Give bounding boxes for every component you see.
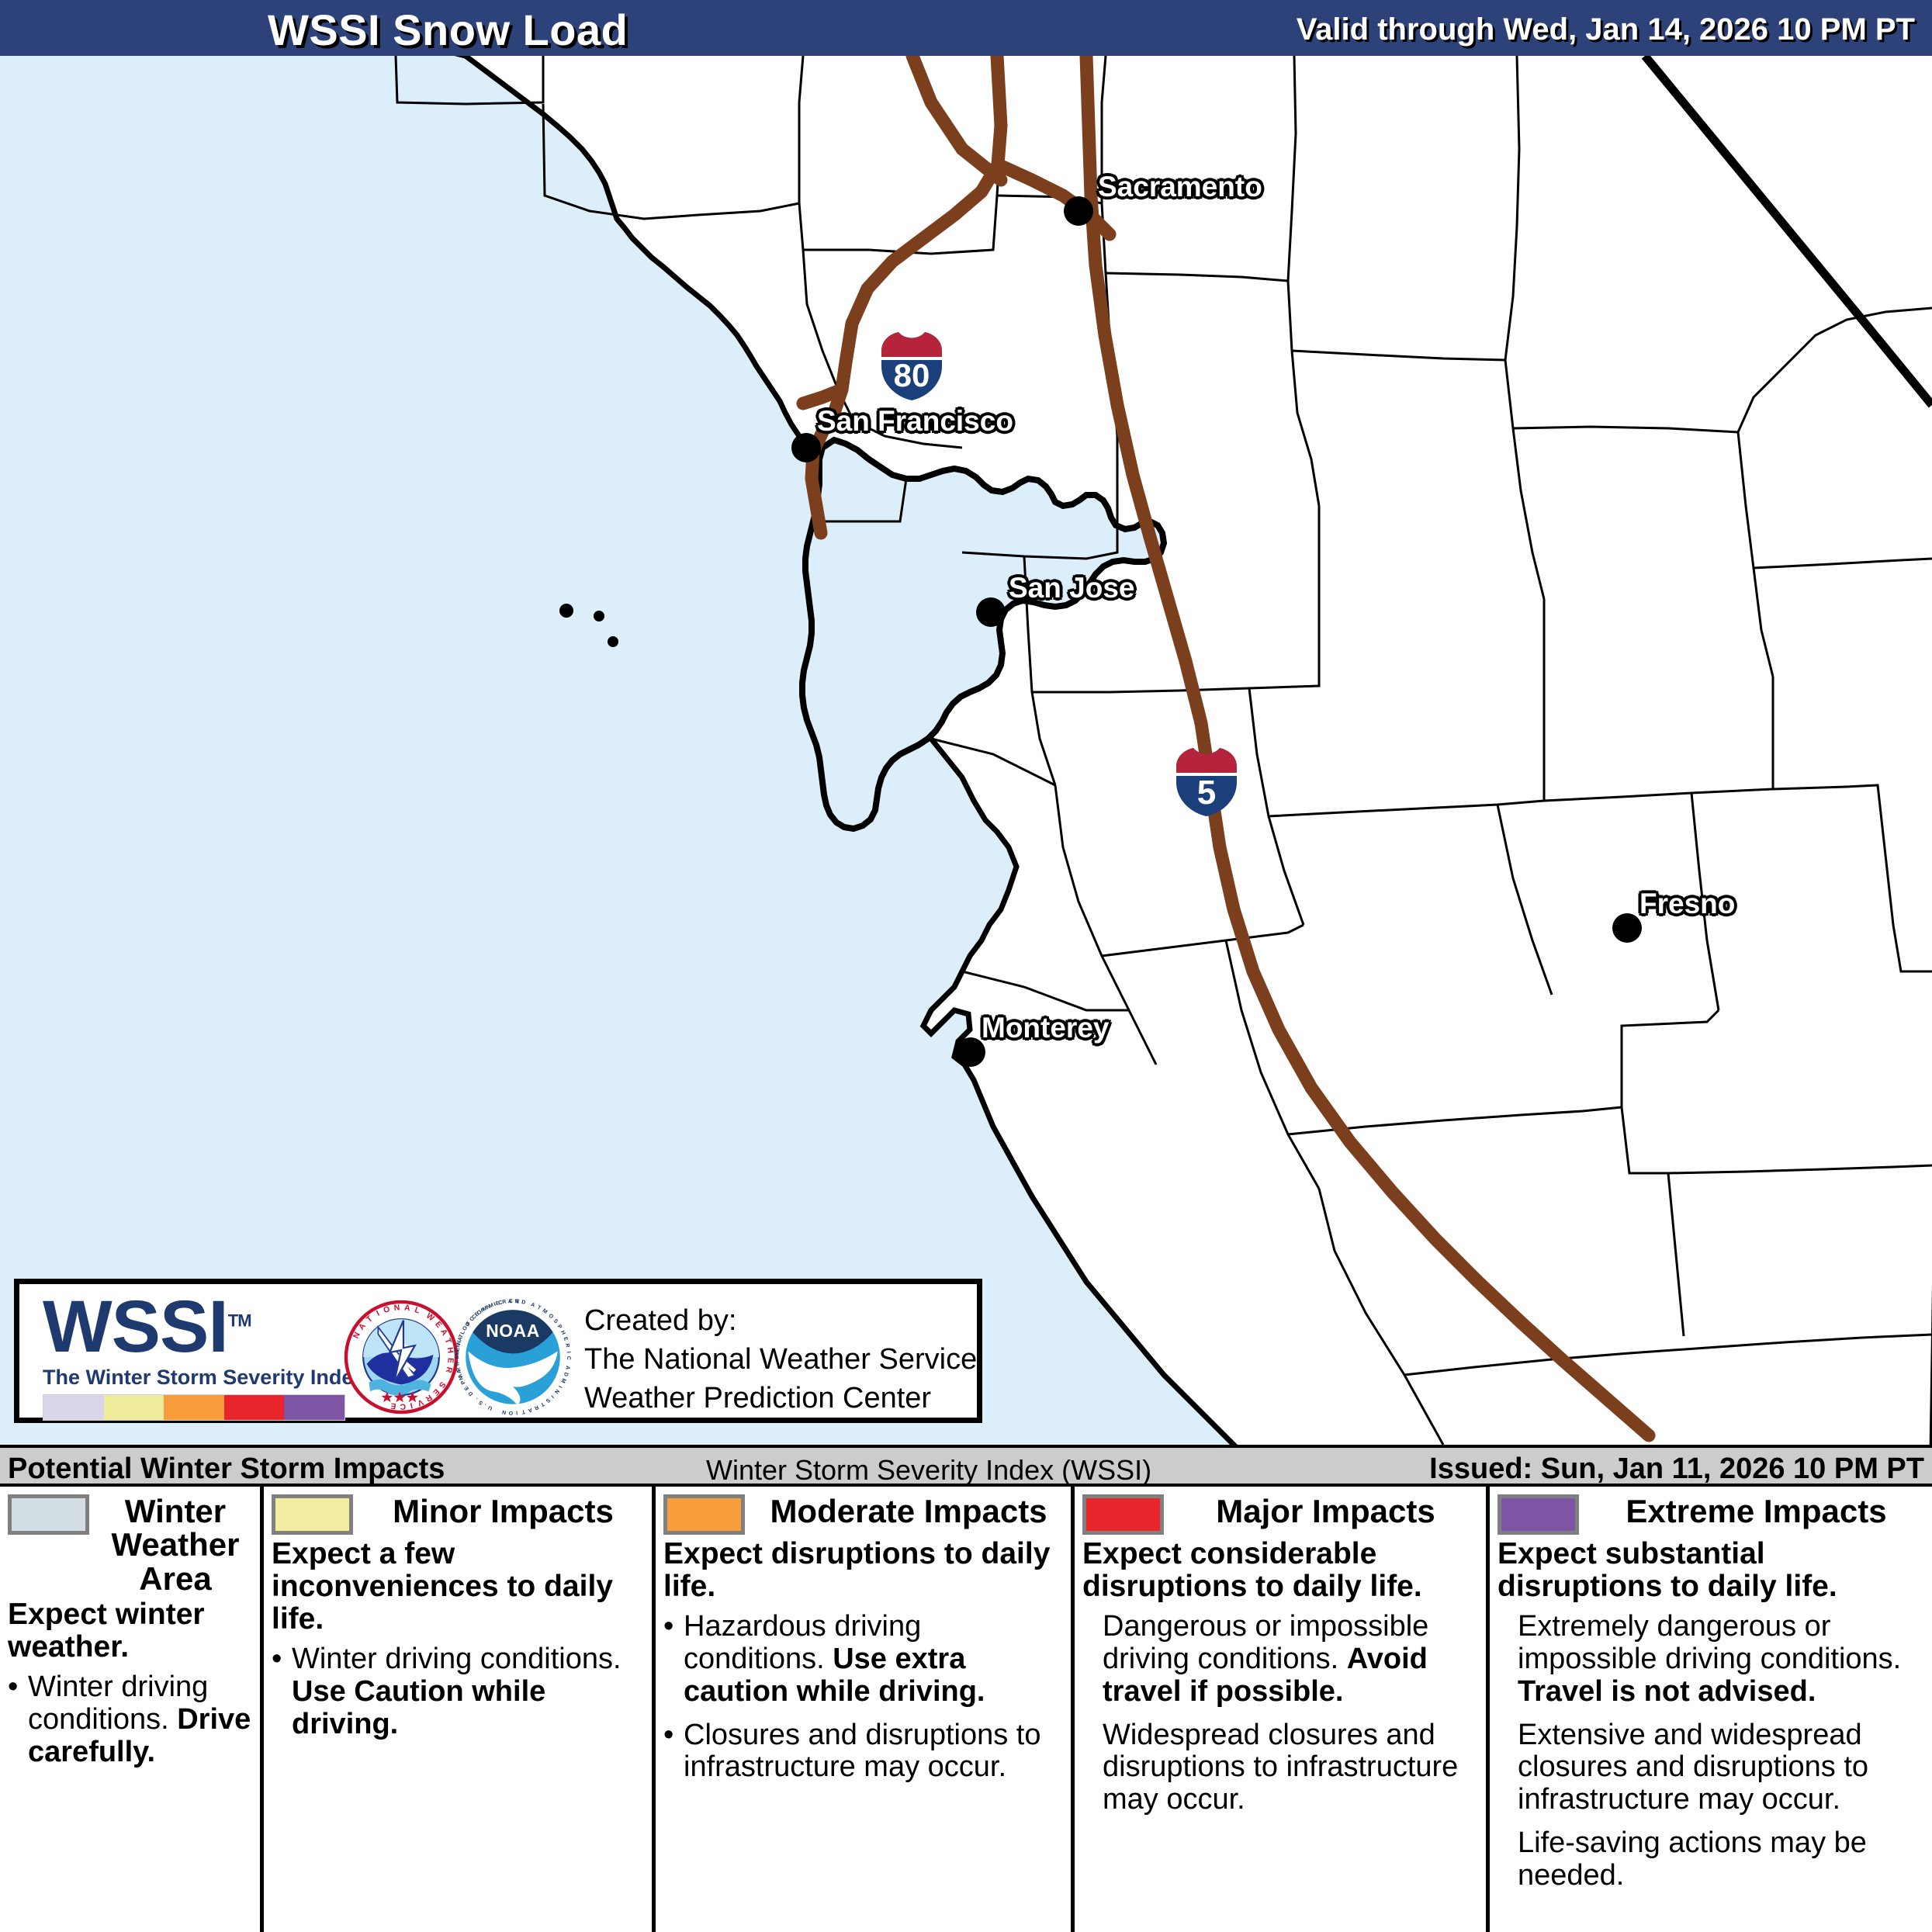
legend-swatch-extreme-impacts [1497,1494,1579,1535]
svg-text:O: O [508,1410,513,1415]
legend-summary: Expect disruptions to daily life. [663,1538,1063,1603]
city-dot-san-jose [976,597,1006,627]
wssi-color-strip [43,1394,345,1421]
trademark-symbol: TM [228,1311,251,1330]
legend-summary: Expect considerable disruptions to daily… [1082,1538,1478,1603]
created-by-center: Weather Prediction Center [584,1379,977,1418]
strip-swatch-extreme [284,1395,345,1420]
legend-header: Winter Weather Area [8,1494,252,1595]
bullet-dot-icon: • [663,1611,684,1708]
city-label-monterey: Monterey [982,1012,1109,1044]
legend-swatch-winter-weather-area [8,1494,89,1535]
created-by-org: The National Weather Service [584,1340,977,1379]
svg-text:D: D [468,1390,475,1397]
legend-title-minor-impacts: Minor Impacts [362,1494,644,1528]
wssi-logo-box: WSSITM The Winter Storm Severity Index N [14,1279,982,1423]
status-bar: Potential Winter Storm Impacts Winter St… [0,1445,1932,1487]
island-farallon-3 [608,636,618,647]
svg-text:E: E [455,1347,461,1352]
issued-timestamp: Issued: Sun, Jan 11, 2026 10 PM PT [1429,1452,1924,1486]
legend-bullet-text: Hazardous driving conditions. Use extra … [684,1611,1063,1708]
svg-text:D: D [521,1300,525,1306]
legend-bullet-text: Life-saving actions may be needed. [1518,1827,1924,1892]
map-canvas[interactable]: 80 5 Sacramento San Francisco San Jose F… [0,56,1932,1445]
svg-text:R: R [502,1300,507,1306]
svg-text:A: A [530,1302,535,1308]
svg-text:I: I [566,1351,571,1353]
svg-text:E: E [516,1299,521,1304]
svg-text:T: T [521,1408,525,1414]
wssi-wordmark: WSSITM [43,1290,353,1364]
legend-bullet: •Extensive and widespread closures and d… [1497,1719,1924,1816]
svg-text:M: M [559,1377,566,1383]
legend-bullet-text: Closures and disruptions to infrastructu… [684,1719,1063,1785]
strip-swatch-winter-weather [43,1395,104,1420]
svg-text:R: R [564,1343,570,1348]
legend-bullet-list: •Dangerous or impossible driving conditi… [1082,1611,1478,1816]
legend-swatch-minor-impacts [272,1494,353,1535]
wssi-brand-mark: WSSITM The Winter Storm Severity Index [43,1290,353,1421]
svg-text:U: U [487,1404,493,1411]
legend-bullet: •Hazardous driving conditions. Use extra… [663,1611,1063,1708]
svg-text:O: O [547,1313,554,1320]
svg-text:T: T [455,1360,460,1365]
bullet-dot-icon: • [8,1671,28,1768]
svg-text:C: C [400,1402,406,1411]
legend-bullet-list: •Extremely dangerous or impossible drivi… [1497,1611,1924,1892]
legend-header: Extreme Impacts [1497,1494,1924,1535]
svg-text:P: P [556,1324,563,1330]
legend-bullet: •Winter driving conditions. Use Caution … [272,1643,644,1740]
legend-bullet-text: Extensive and widespread closures and di… [1518,1719,1924,1816]
svg-text:C: C [566,1356,571,1360]
svg-text:M: M [542,1308,549,1315]
strip-swatch-minor [104,1395,164,1420]
svg-text:A: A [564,1365,570,1369]
svg-text:D: D [563,1372,569,1377]
svg-text:NOAA: NOAA [486,1321,540,1341]
island-farallon-2 [594,611,604,621]
svg-text:I: I [516,1410,518,1415]
svg-text:S: S [545,1397,551,1404]
map-vector-layer [0,56,1932,1445]
legend-title-extreme-impacts: Extreme Impacts [1588,1494,1924,1528]
svg-text:S: S [478,1399,484,1406]
legend-column-winter-weather-area: Winter Weather AreaExpect winter weather… [0,1487,264,1932]
svg-text:N: N [553,1388,560,1394]
svg-text:E: E [562,1336,568,1342]
legend-bullet: •Winter driving conditions. Drive carefu… [8,1671,252,1768]
legend-bullet-text: Winter driving conditions. Drive careful… [28,1671,252,1768]
legend-swatch-moderate-impacts [663,1494,745,1535]
bullet-dot-icon: • [272,1643,292,1740]
legend-bullet-list: •Winter driving conditions. Drive carefu… [8,1671,252,1768]
legend-bullet: •Dangerous or impossible driving conditi… [1082,1611,1478,1708]
valid-through-text: Valid through Wed, Jan 14, 2026 10 PM PT [1297,12,1915,47]
created-by-block: Created by: The National Weather Service… [584,1301,977,1418]
legend-column-major-impacts: Major ImpactsExpect considerable disrupt… [1075,1487,1490,1932]
legend-bullet: •Closures and disruptions to infrastruct… [663,1719,1063,1785]
city-label-san-francisco: San Francisco [817,405,1013,438]
svg-text:I: I [557,1384,563,1388]
wssi-tagline: The Winter Storm Severity Index [43,1366,353,1390]
legend-header: Major Impacts [1082,1494,1478,1535]
legend-summary: Expect a few inconveniences to daily lif… [272,1538,644,1636]
svg-text:S: S [552,1318,559,1324]
legend-bullet-list: •Winter driving conditions. Use Caution … [272,1643,644,1740]
island-farallon-1 [559,604,573,618]
legend-bullet-text: Widespread closures and disruptions to i… [1103,1719,1478,1816]
svg-text:H: H [559,1330,566,1336]
legend-header: Moderate Impacts [663,1494,1063,1535]
legend-title-winter-weather-area: Winter Weather Area [99,1494,252,1595]
noaa-logo: NOAA N A T I O N A L O C E A N I C A N D [454,1297,572,1418]
legend-bullet: •Extremely dangerous or impossible drivi… [1497,1611,1924,1708]
city-dot-sacramento [1064,196,1093,226]
legend-bullet: •Widespread closures and disruptions to … [1082,1719,1478,1816]
svg-text:.: . [474,1397,479,1402]
legend-column-minor-impacts: Minor ImpactsExpect a few inconveniences… [264,1487,656,1932]
svg-text:E: E [463,1385,470,1391]
national-weather-service-logo: N A T I O N A L W E A T H E R S E R V I [344,1300,459,1414]
svg-text:5: 5 [1197,774,1216,812]
legend-title-major-impacts: Major Impacts [1173,1494,1478,1528]
svg-text:N: N [393,1304,400,1313]
city-label-san-jose: San Jose [1009,572,1134,604]
svg-text:T: T [536,1305,542,1312]
legend-bullet: •Life-saving actions may be needed. [1497,1827,1924,1892]
svg-text:H: H [445,1347,455,1354]
legend-summary: Expect winter weather. [8,1598,252,1664]
legend-bullet-list: •Hazardous driving conditions. Use extra… [663,1611,1063,1784]
page-title: WSSI Snow Load [268,5,628,55]
city-label-sacramento: Sacramento [1098,171,1262,203]
svg-text:I: I [549,1394,554,1398]
legend-header: Minor Impacts [272,1494,644,1535]
svg-text:T: T [539,1401,545,1407]
svg-text:M: M [455,1354,460,1359]
svg-text:R: R [533,1404,539,1410]
impact-legend: Winter Weather AreaExpect winter weather… [0,1487,1932,1932]
interstate-5-shield: 5 [1170,745,1243,819]
svg-text:C: C [509,1299,513,1304]
strip-swatch-major [224,1395,285,1420]
interstate-80-shield: 80 [875,329,948,403]
legend-title-moderate-impacts: Moderate Impacts [754,1494,1063,1528]
legend-swatch-major-impacts [1082,1494,1164,1535]
created-by-label: Created by: [584,1301,977,1340]
legend-column-extreme-impacts: Extreme ImpactsExpect substantial disrup… [1490,1487,1932,1932]
wssi-subtitle: Winter Storm Severity Index (WSSI) [706,1454,1151,1487]
legend-summary: Expect substantial disruptions to daily … [1497,1538,1924,1603]
svg-text:N: N [502,1409,507,1415]
wssi-snow-load-page: WSSI Snow Load Valid through Wed, Jan 14… [0,0,1932,1932]
legend-bullet-text: Extremely dangerous or impossible drivin… [1518,1611,1924,1708]
svg-text:80: 80 [894,357,930,393]
svg-text:A: A [528,1407,533,1413]
city-dot-fresno [1612,913,1642,943]
city-label-fresno: Fresno [1639,888,1735,920]
legend-bullet-text: Winter driving conditions. Use Caution w… [292,1643,644,1740]
page-header: WSSI Snow Load Valid through Wed, Jan 14… [0,0,1932,56]
bullet-dot-icon: • [663,1719,684,1785]
potential-impacts-label: Potential Winter Storm Impacts [8,1452,445,1486]
strip-swatch-moderate [164,1395,224,1420]
land-polygon [388,56,1932,1445]
svg-text:.: . [483,1402,487,1407]
legend-bullet-text: Dangerous or impossible driving conditio… [1103,1611,1478,1708]
legend-column-moderate-impacts: Moderate ImpactsExpect disruptions to da… [656,1487,1075,1932]
